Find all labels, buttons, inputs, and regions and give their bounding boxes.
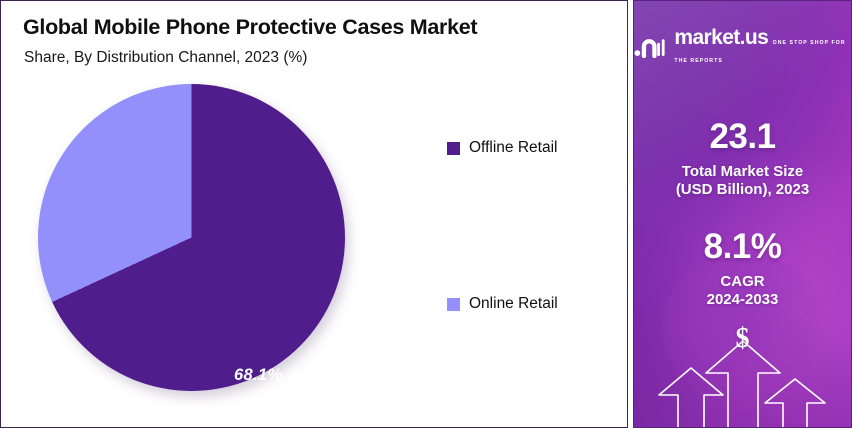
market-size-caption: Total Market Size (USD Billion), 2023 [634,163,851,198]
legend-label-offline: Offline Retail [469,139,557,157]
cagr-caption: CAGR 2024-2033 [634,273,851,308]
market-size-caption-line1: Total Market Size [682,163,803,180]
pie-slices [38,84,345,391]
infographic-root: Global Mobile Phone Protective Cases Mar… [0,0,852,428]
cagr-caption-line2: 2024-2033 [707,291,779,308]
brand-panel: market.us ONE STOP SHOP FOR THE REPORTS … [633,0,852,428]
legend-item-offline-retail[interactable]: Offline Retail [447,139,557,157]
legend-swatch-icon-offline [447,142,460,155]
market-us-logo-icon [634,34,667,61]
arrow-up-icon-right [765,379,825,427]
market-size-caption-line2: (USD Billion), 2023 [676,181,809,198]
brand-name: market.us [674,26,768,49]
legend-swatch-icon-online [447,298,460,311]
cagr-caption-line1: CAGR [720,273,764,290]
cagr-value: 8.1% [634,229,851,264]
pie-chart: 68.1% [38,84,345,391]
legend-label-online: Online Retail [469,295,558,313]
pie-slice-label-offline: 68.1% [234,366,282,385]
arrow-up-icon-left [659,368,723,427]
growth-arrows-graphic: $ [634,323,851,427]
brand-logo-text: market.us ONE STOP SHOP FOR THE REPORTS [674,27,851,67]
market-size-value: 23.1 [634,119,851,154]
chart-card: Global Mobile Phone Protective Cases Mar… [0,0,628,428]
page-title: Global Mobile Phone Protective Cases Mar… [23,15,477,40]
dollar-sign-icon: $ [634,325,851,353]
brand-logo[interactable]: market.us ONE STOP SHOP FOR THE REPORTS [634,27,851,67]
chart-subtitle: Share, By Distribution Channel, 2023 (%) [24,49,307,67]
legend-item-online-retail[interactable]: Online Retail [447,295,558,313]
